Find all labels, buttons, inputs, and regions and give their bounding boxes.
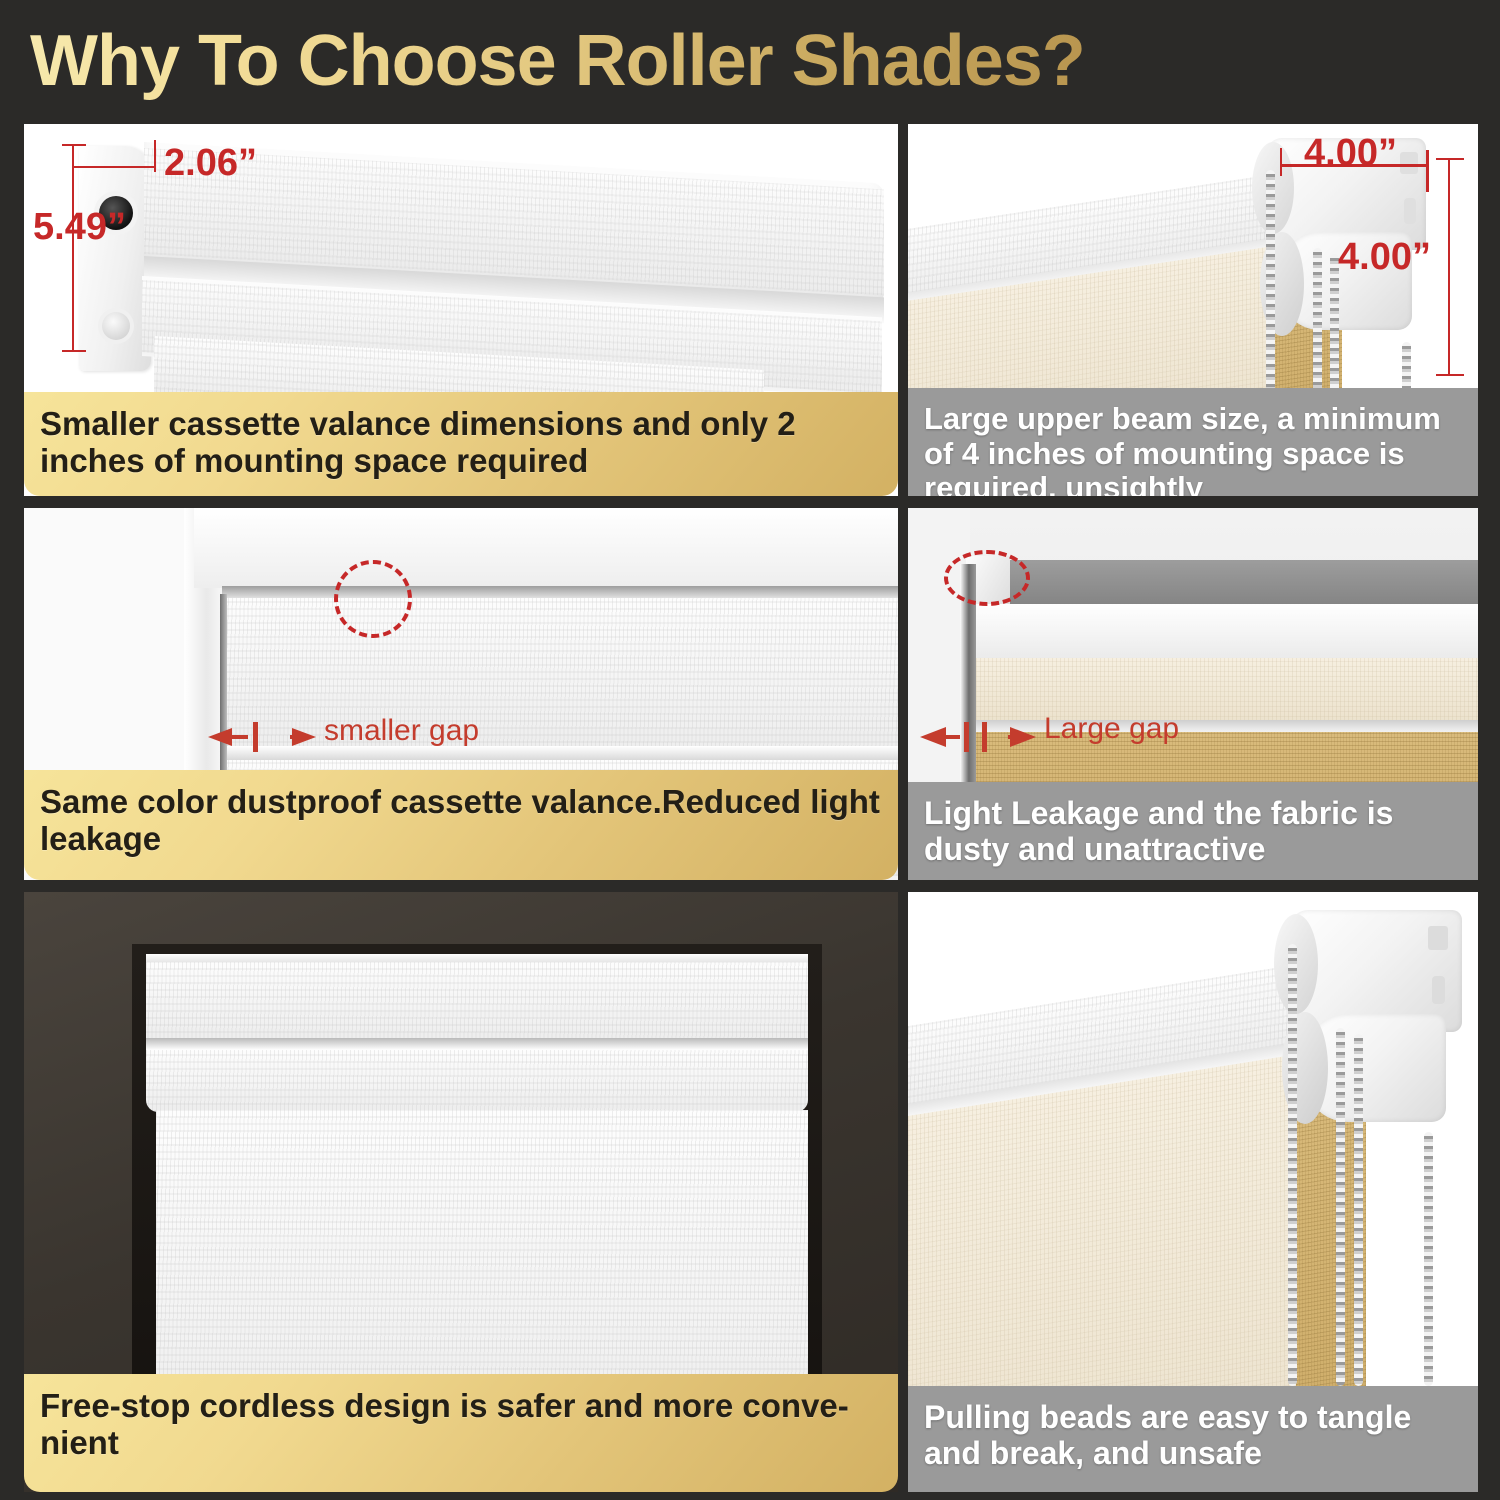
- height-dimension-label: 5.49”: [24, 206, 126, 249]
- panel-con-light-leakage[interactable]: Large gap Light Leakage and the fabric i…: [908, 508, 1478, 880]
- valance-top-edge: [222, 586, 898, 598]
- beam-height-label: 4.00”: [1338, 236, 1431, 279]
- beam-width-label: 4.00”: [1304, 132, 1397, 175]
- bracket-slot-top: [1428, 926, 1448, 950]
- panel-pro-cassette-dimensions[interactable]: 5.49” 2.06” Smaller cassette valance dim…: [24, 124, 898, 496]
- smaller-gap-label: smaller gap: [324, 714, 479, 748]
- caption-pro-dustproof-valance: Same color dustproof cassette valance.Re…: [24, 770, 898, 880]
- gap-arrow-left-icon: [916, 720, 1044, 754]
- width-dim-tick-right: [154, 140, 156, 172]
- caption-pro-cordless-design: Free-stop cordless design is safer and m…: [24, 1374, 898, 1492]
- caption-pro-cassette-dimensions: Smaller cassette valance dimensions and …: [24, 392, 898, 496]
- roller-tube: [968, 604, 1478, 658]
- valance-groove: [146, 1038, 808, 1050]
- bead-chain-1: [1288, 944, 1297, 1386]
- upper-beam-dark: [966, 560, 1478, 606]
- cassette-valance: [146, 962, 808, 1040]
- height-dim-tick-top: [62, 144, 86, 146]
- window-casing-top: [194, 508, 898, 588]
- caption-con-upper-beam-size: Large upper beam size, a minimum of 4 in…: [908, 388, 1478, 496]
- beam-height-tick-bottom: [1436, 374, 1464, 376]
- width-dim-line: [72, 166, 156, 168]
- page-title: Why To Choose Roller Shades?: [30, 20, 1085, 102]
- panel-con-pulling-beads[interactable]: Pulling beads are easy to tangle and bre…: [908, 892, 1478, 1492]
- height-dim-tick-bottom: [62, 350, 86, 352]
- panel-pro-dustproof-valance[interactable]: smaller gap Same color dustproof cassett…: [24, 508, 898, 880]
- end-cap-screw: [102, 312, 130, 340]
- width-dimension-label: 2.06”: [164, 142, 257, 185]
- panel-con-upper-beam-size[interactable]: 4.00” 4.00” Large upper beam size, a min…: [908, 124, 1478, 496]
- bead-chain-3: [1354, 1034, 1363, 1386]
- beam-width-tick-right: [1426, 150, 1429, 192]
- caption-con-pulling-beads: Pulling beads are easy to tangle and bre…: [908, 1386, 1478, 1492]
- beam-width-tick-left: [1280, 148, 1282, 176]
- highlight-circle-gap: [944, 550, 1030, 606]
- highlight-circle-gap: [334, 560, 412, 638]
- valance-front-rail: [146, 1050, 808, 1112]
- bead-chain-2: [1313, 248, 1322, 410]
- large-gap-label: Large gap: [1044, 712, 1179, 746]
- comparison-grid: 5.49” 2.06” Smaller cassette valance dim…: [0, 118, 1500, 1500]
- gap-arrow-left-icon: [206, 720, 326, 754]
- bracket-slot-mid: [1404, 198, 1416, 224]
- beam-height-tick-top: [1436, 158, 1464, 160]
- bracket-slot-top: [1400, 152, 1418, 174]
- header: Why To Choose Roller Shades?: [0, 0, 1500, 118]
- bead-chain-1: [1266, 170, 1275, 410]
- bead-chain-2: [1336, 1028, 1345, 1386]
- caption-con-light-leakage: Light Leakage and the fabric is dusty an…: [908, 782, 1478, 880]
- bracket-slot-mid: [1432, 976, 1445, 1004]
- beam-height-line: [1448, 158, 1450, 376]
- panel-pro-cordless-design[interactable]: Free-stop cordless design is safer and m…: [24, 892, 898, 1492]
- bead-chain-4: [1424, 1132, 1433, 1386]
